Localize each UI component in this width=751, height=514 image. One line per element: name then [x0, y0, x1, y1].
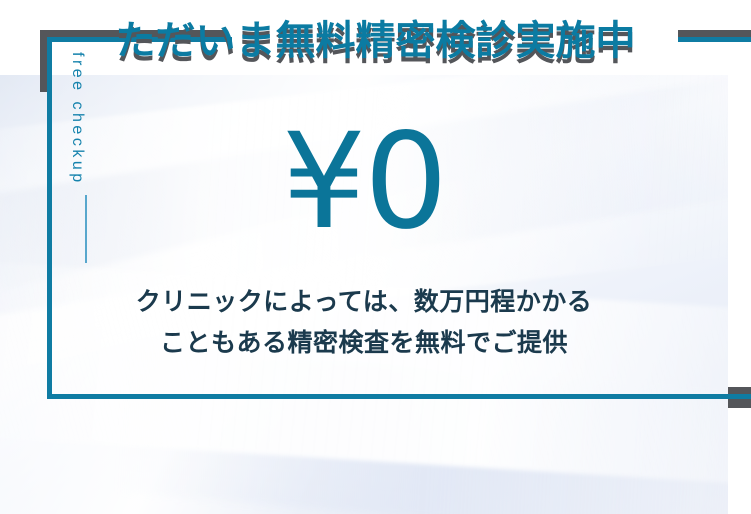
background-swoosh-shade-lower	[115, 342, 728, 514]
headline: ただいま無料精密検診実施中	[0, 8, 751, 66]
frame-bottom-tail-rule	[728, 394, 751, 399]
promo-banner: free checkup ただいま無料精密検診実施中 ただいま無料精密検診実施中…	[0, 0, 751, 514]
subcopy-line-1: クリニックによっては、数万円程かかる	[0, 281, 728, 322]
frame-bottom-rule	[47, 394, 728, 399]
price-amount: ¥0	[0, 112, 728, 252]
subcopy: クリニックによっては、数万円程かかる こともある精密検査を無料でご提供	[0, 281, 728, 363]
subcopy-line-2: こともある精密検査を無料でご提供	[0, 322, 728, 363]
